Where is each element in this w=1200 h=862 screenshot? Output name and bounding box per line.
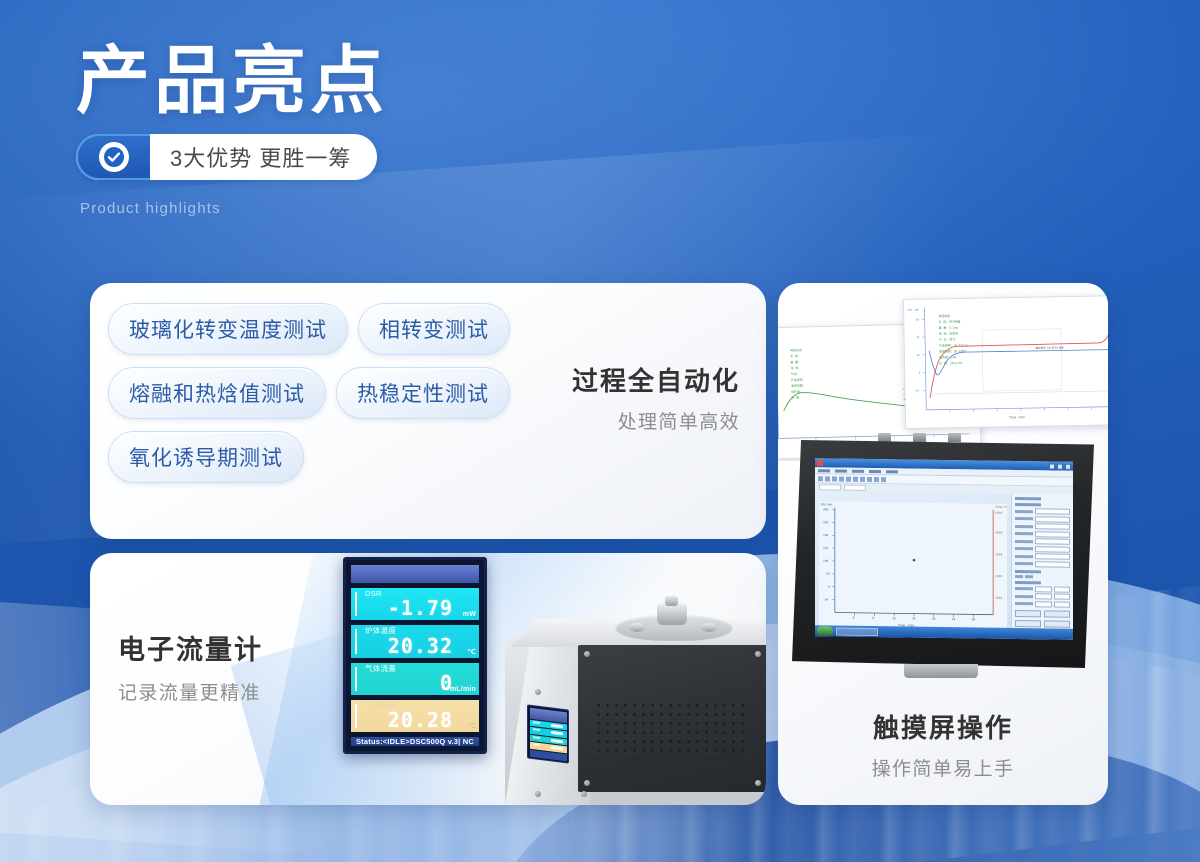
- panel-screw: [584, 651, 590, 657]
- chart-svg-redblue: DSC /mW 3020 100-10 Temp 600400 2000 样品信…: [904, 296, 1108, 428]
- page-subtitle: Product highlights: [80, 200, 388, 217]
- svg-text:样品信息: 样品信息: [790, 347, 802, 352]
- highlight-badge: 3大优势 更胜一筹: [76, 134, 377, 180]
- badge-label: 3大优势 更胜一筹: [150, 134, 377, 180]
- feature-tag[interactable]: 玻璃化转变温度测试: [108, 303, 348, 355]
- chassis-screw: [535, 791, 541, 797]
- monitor-screen[interactable]: DSC/mW 300250200 15010050 0-50 Temp/℃ 60…: [815, 458, 1073, 640]
- monitor-stand: [904, 664, 978, 678]
- svg-text:重 量：: 重 量：: [790, 359, 801, 364]
- svg-text:200: 200: [823, 533, 829, 537]
- svg-text:150: 150: [823, 546, 829, 550]
- param-group: [1015, 503, 1070, 567]
- param-field[interactable]: [1015, 585, 1070, 592]
- lcd-header-band: [350, 564, 480, 584]
- instrument-port: [629, 623, 645, 632]
- lcd-value: 20.28: [359, 710, 475, 731]
- touchscreen-subheading: 操作简单易上手: [778, 754, 1108, 781]
- lcd-value: 20.32: [359, 636, 475, 657]
- param-field[interactable]: [1015, 523, 1070, 530]
- svg-text:4: 4: [853, 616, 855, 620]
- page-header: 产品亮点 3大优势 更胜一筹 Product highlights: [76, 44, 388, 217]
- plot-svg: DSC/mW 300250200 15010050 0-50 Temp/℃ 60…: [819, 495, 1007, 637]
- automation-heading: 过程全自动化: [540, 361, 740, 398]
- instrument-vent-grid: [594, 701, 744, 759]
- instrument-mini-display: [527, 704, 569, 763]
- param-field[interactable]: [1015, 600, 1070, 607]
- window-controls[interactable]: [1049, 463, 1071, 469]
- instrument-furnace-cap: [657, 603, 687, 625]
- instrument-port: [701, 623, 717, 632]
- lcd-row-ambient-temp: 环境温度 20.28 ℃: [350, 699, 480, 733]
- svg-text:基线稳定 DSC信号/温度: 基线稳定 DSC信号/温度: [1035, 345, 1064, 349]
- param-field[interactable]: [1015, 515, 1070, 522]
- feature-tag[interactable]: 氧化诱导期测试: [108, 431, 304, 483]
- svg-text:10: 10: [916, 353, 920, 357]
- feature-tag-row: 氧化诱导期测试: [108, 431, 568, 483]
- param-field[interactable]: [1015, 530, 1070, 537]
- svg-text:坩 埚：: 坩 埚：: [791, 365, 802, 370]
- param-group-radio: [1015, 569, 1070, 578]
- svg-text:3000: 3000: [995, 552, 1002, 556]
- panel-buttons[interactable]: [1015, 619, 1070, 627]
- touchscreen-text-block: 触摸屏操作 操作简单易上手: [778, 708, 1108, 781]
- automation-subheading: 处理简单高效: [540, 407, 740, 434]
- svg-text:Temp/℃: Temp/℃: [995, 505, 1007, 509]
- svg-text:8: 8: [872, 616, 874, 620]
- svg-text:1000: 1000: [995, 596, 1002, 600]
- svg-text:24: 24: [952, 617, 956, 621]
- lcd-status-bar: Status:<IDLE>DSC500Q v.3| NC: [350, 736, 480, 747]
- lcd-row-dsr: DSR -1.79 mW: [350, 587, 480, 621]
- touchscreen-monitor: DSC/mW 300250200 15010050 0-50 Temp/℃ 60…: [792, 440, 1094, 668]
- touchscreen-heading: 触摸屏操作: [778, 708, 1108, 745]
- svg-text:DSC /mW: DSC /mW: [908, 308, 919, 312]
- automation-text-block: 过程全自动化 处理简单高效: [540, 361, 740, 434]
- feature-tag-list: 玻璃化转变温度测试 相转变测试 熔融和热焓值测试 热稳定性测试 氧化诱导期测试: [108, 303, 568, 495]
- param-group: [1015, 497, 1070, 501]
- svg-text:坩 埚：铝坩埚: 坩 埚：铝坩埚: [939, 331, 959, 336]
- badge-icon-cell: [76, 134, 150, 180]
- lcd-display-panel: DSR -1.79 mW 炉体温度 20.32 ℃ 气体流量 0 mL/min …: [343, 557, 487, 754]
- param-field[interactable]: [1015, 593, 1070, 600]
- param-field[interactable]: [1015, 553, 1070, 560]
- feature-tag[interactable]: 热稳定性测试: [336, 367, 510, 419]
- card-touchscreen: 样品信息名 称： 重 量：坩 埚： 气氛：升温速率： 温度范围：操作者： 日 期…: [778, 283, 1108, 805]
- svg-text:100: 100: [823, 559, 829, 563]
- svg-text:日 期：2023/10: 日 期：2023/10: [939, 360, 962, 365]
- svg-text:250: 250: [823, 520, 829, 524]
- lcd-label: 气体流量: [365, 665, 475, 673]
- svg-text:气 氛：氮气: 气 氛：氮气: [939, 336, 956, 341]
- svg-text:28: 28: [971, 617, 975, 621]
- svg-text:-50: -50: [823, 597, 829, 601]
- page-title: 产品亮点: [76, 44, 388, 118]
- panel-buttons[interactable]: [1015, 609, 1070, 617]
- monitor-connectors: [878, 433, 961, 442]
- dsc-instrument: [505, 593, 766, 805]
- svg-text:30: 30: [916, 317, 920, 321]
- panel-screw: [584, 780, 590, 786]
- flowmeter-heading: 电子流量计: [118, 628, 263, 667]
- param-field[interactable]: [1015, 538, 1070, 545]
- instrument-knob: [665, 596, 678, 606]
- software-body: DSC/mW 300250200 15010050 0-50 Temp/℃ 60…: [815, 491, 1073, 640]
- param-field[interactable]: [1015, 545, 1070, 552]
- svg-text:16: 16: [912, 616, 916, 620]
- lcd-unit: ℃: [467, 722, 476, 730]
- taskbar-app-item[interactable]: [836, 627, 878, 636]
- feature-tag[interactable]: 相转变测试: [358, 303, 510, 355]
- svg-text:6000: 6000: [995, 511, 1002, 515]
- svg-text:气氛：: 气氛：: [791, 371, 800, 376]
- radio-option[interactable]: [1015, 574, 1070, 578]
- lcd-row-gas-flow: 气体流量 0 mL/min: [350, 662, 480, 696]
- panel-screw: [755, 780, 761, 786]
- svg-text:20: 20: [932, 617, 936, 621]
- lcd-unit: mW: [463, 611, 476, 618]
- svg-text:12: 12: [892, 616, 896, 620]
- svg-text:Time /min: Time /min: [1009, 415, 1025, 419]
- param-group-range: [1015, 580, 1070, 607]
- card-flowmeter: 电子流量计 记录流量更精准 DSR -1.79 mW 炉体温度 20.32 ℃ …: [90, 553, 766, 805]
- svg-text:2000: 2000: [995, 574, 1002, 578]
- instrument-front-panel: [578, 645, 766, 792]
- svg-text:4000: 4000: [995, 531, 1002, 535]
- check-circle-icon: [99, 142, 129, 172]
- svg-text:重 量：5.2mg: 重 量：5.2mg: [939, 325, 959, 330]
- panel-screw: [755, 651, 761, 657]
- flowmeter-text-block: 电子流量计 记录流量更精准: [118, 628, 263, 705]
- lcd-unit: ℃: [467, 648, 476, 656]
- param-field[interactable]: [1015, 508, 1070, 515]
- start-button-icon[interactable]: [817, 626, 833, 635]
- feature-tag-row: 熔融和热焓值测试 热稳定性测试: [108, 367, 568, 419]
- feature-tag[interactable]: 熔融和热焓值测试: [108, 367, 326, 419]
- svg-text:20: 20: [916, 335, 920, 339]
- svg-text:0: 0: [828, 585, 830, 589]
- lcd-unit: mL/min: [450, 686, 476, 693]
- chassis-screw: [535, 689, 541, 695]
- svg-text:温度范围：30-600℃: 温度范围：30-600℃: [939, 348, 967, 353]
- svg-text:升温速率：: 升温速率：: [791, 377, 806, 382]
- flowmeter-subheading: 记录流量更精准: [118, 678, 263, 705]
- chart-sheet-tga-curve: DSC /mW 3020 100-10 Temp 600400 2000 样品信…: [903, 295, 1108, 429]
- feature-tag-row: 玻璃化转变温度测试 相转变测试: [108, 303, 568, 355]
- lcd-row-furnace-temp: 炉体温度 20.32 ℃: [350, 624, 480, 658]
- param-field[interactable]: [1015, 560, 1070, 567]
- svg-text:-10: -10: [914, 388, 919, 392]
- svg-text:名 称：: 名 称：: [790, 353, 801, 358]
- svg-text:温度范围：: 温度范围：: [791, 383, 806, 388]
- lcd-value: -1.79: [359, 598, 475, 619]
- svg-text:样品信息: 样品信息: [938, 313, 950, 318]
- software-plot-area[interactable]: DSC/mW 300250200 15010050 0-50 Temp/℃ 60…: [815, 491, 1011, 639]
- svg-text:300: 300: [823, 507, 829, 511]
- chassis-screw: [581, 791, 587, 797]
- svg-text:名 称：PET树脂: 名 称：PET树脂: [938, 319, 960, 324]
- card-automation: 玻璃化转变温度测试 相转变测试 熔融和热焓值测试 热稳定性测试 氧化诱导期测试 …: [90, 283, 766, 539]
- software-parameter-panel[interactable]: [1011, 494, 1073, 640]
- svg-text:DSC/mW: DSC/mW: [821, 502, 832, 506]
- svg-text:50: 50: [826, 572, 830, 576]
